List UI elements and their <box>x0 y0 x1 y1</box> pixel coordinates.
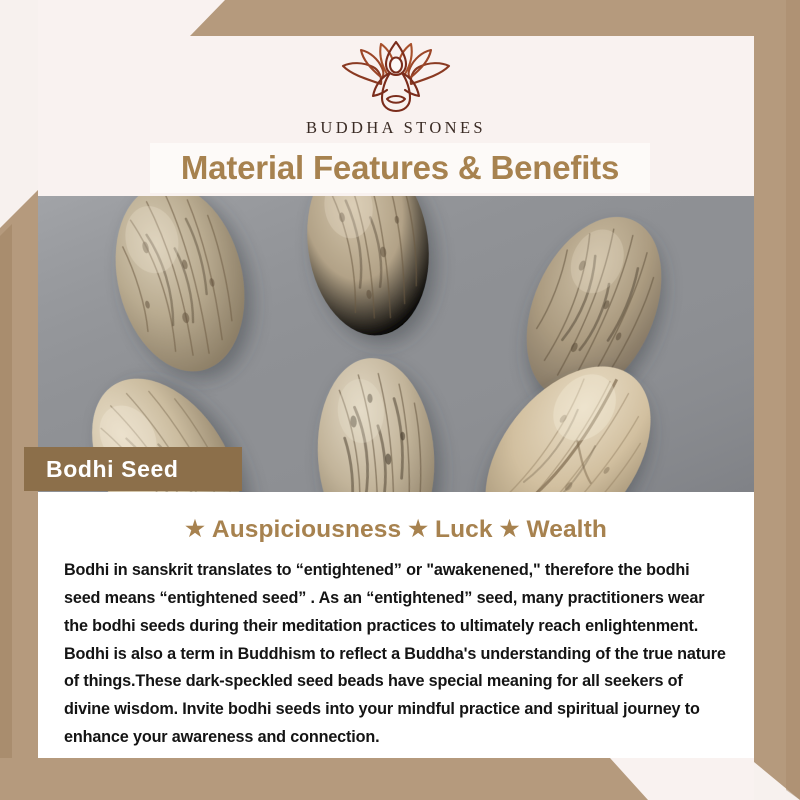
benefit-item-1: Luck <box>435 516 493 543</box>
lotus-meditation-icon <box>337 38 455 116</box>
star-icon: ★ <box>500 516 520 542</box>
description-paragraph: Bodhi in sanskrit translates to “entight… <box>38 544 754 752</box>
product-label-text: Bodhi Seed <box>24 456 179 483</box>
title-banner: Material Features & Benefits <box>150 143 650 193</box>
poster-root: BUDDHA STONES Material Features & Benefi… <box>0 0 800 800</box>
brand-header: BUDDHA STONES <box>38 36 754 144</box>
frame-right-shade <box>786 0 800 800</box>
content-card: ★Auspiciousness★Luck★Wealth Bodhi in san… <box>38 492 754 758</box>
brand-name: BUDDHA STONES <box>306 118 486 138</box>
page-title: Material Features & Benefits <box>181 149 619 187</box>
star-icon: ★ <box>408 516 428 542</box>
benefits-headline: ★Auspiciousness★Luck★Wealth <box>38 492 754 544</box>
frame-left-shade <box>0 0 12 800</box>
star-icon: ★ <box>185 516 205 542</box>
product-label: Bodhi Seed <box>24 447 242 491</box>
benefit-item-0: Auspiciousness <box>212 516 401 543</box>
benefit-item-2: Wealth <box>526 516 606 543</box>
